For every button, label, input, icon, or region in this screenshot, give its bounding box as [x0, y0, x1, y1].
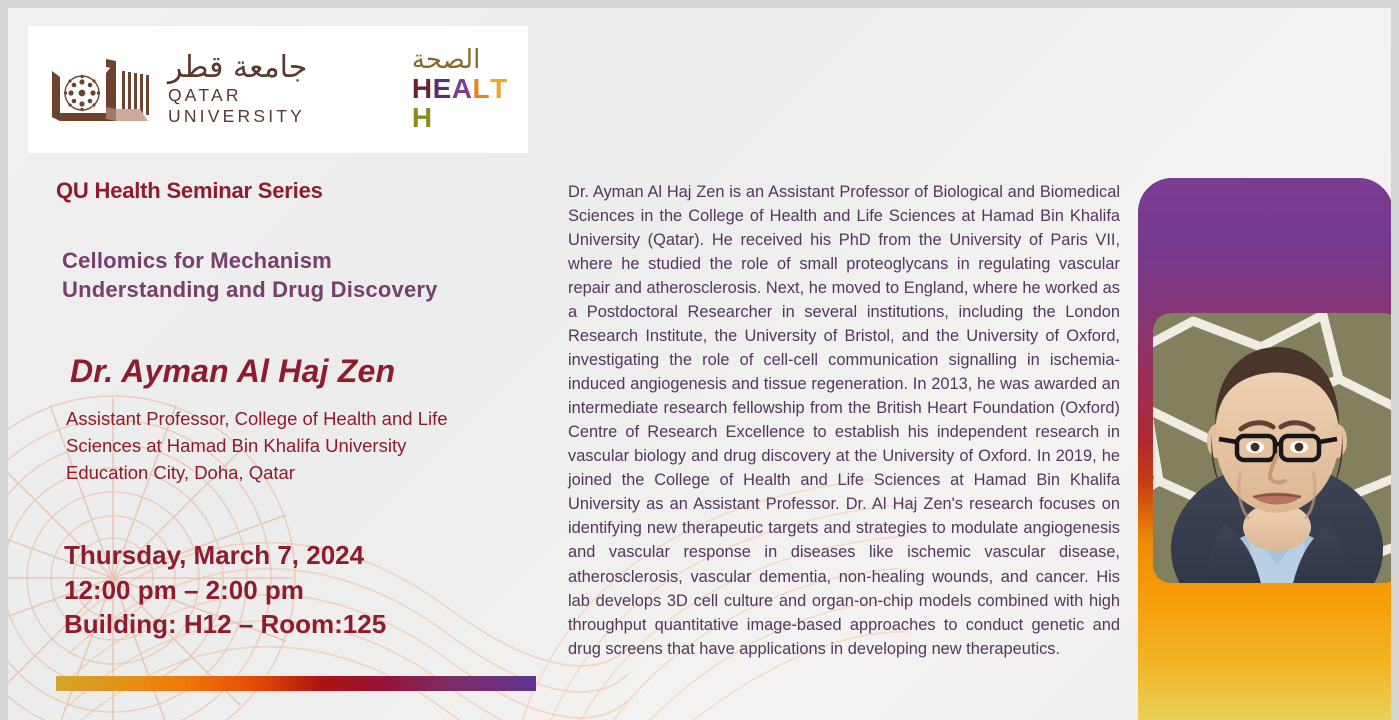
poster-canvas: جامعة قطر QATAR UNIVERSITY الصحة HEALTH … [8, 8, 1391, 720]
series-title: QU Health Seminar Series [56, 178, 546, 204]
affiliation-line-1: Assistant Professor, College of Health a… [66, 406, 546, 433]
health-letter: H [412, 103, 433, 132]
qu-latin-name: QATAR UNIVERSITY [168, 85, 386, 127]
speaker-affiliation: Assistant Professor, College of Health a… [66, 406, 546, 486]
event-time: 12:00 pm – 2:00 pm [64, 573, 546, 607]
health-latin-label: HEALTH [412, 74, 528, 133]
talk-title: Cellomics for Mechanism Understanding an… [62, 246, 546, 305]
qatar-university-wordmark: جامعة قطر QATAR UNIVERSITY [168, 52, 386, 128]
health-letter: L [473, 74, 491, 103]
speaker-photo-panel [1138, 178, 1391, 720]
speaker-name: Dr. Ayman Al Haj Zen [70, 353, 546, 390]
gradient-accent-bar [56, 676, 536, 691]
event-date: Thursday, March 7, 2024 [64, 538, 546, 572]
health-letter: A [452, 74, 473, 103]
speaker-biography: Dr. Ayman Al Haj Zen is an Assistant Pro… [568, 180, 1120, 661]
qu-arabic-name: جامعة قطر [168, 52, 307, 84]
talk-title-line-1: Cellomics for Mechanism [62, 246, 546, 275]
affiliation-line-2: Sciences at Hamad Bin Khalifa University [66, 433, 546, 460]
qu-health-sublogo: الصحة HEALTH [412, 47, 528, 133]
affiliation-line-3: Education City, Doha, Qatar [66, 460, 546, 487]
health-letter: T [490, 74, 508, 103]
event-details: Thursday, March 7, 2024 12:00 pm – 2:00 … [64, 538, 546, 641]
logo-header-box: جامعة قطر QATAR UNIVERSITY الصحة HEALTH [28, 26, 528, 153]
seminar-poster: جامعة قطر QATAR UNIVERSITY الصحة HEALTH … [0, 0, 1399, 720]
speaker-portrait-image [1153, 313, 1391, 583]
event-location: Building: H12 – Room:125 [64, 607, 546, 641]
seminar-details-column: QU Health Seminar Series Cellomics for M… [56, 178, 546, 641]
health-letter: H [412, 74, 433, 103]
logo-lockup: جامعة قطر QATAR UNIVERSITY الصحة HEALTH [44, 47, 528, 133]
qatar-university-emblem-icon [44, 51, 152, 129]
speaker-portrait [1153, 313, 1391, 583]
health-letter: E [433, 74, 452, 103]
health-arabic-label: الصحة [412, 47, 480, 73]
talk-title-line-2: Understanding and Drug Discovery [62, 275, 546, 304]
